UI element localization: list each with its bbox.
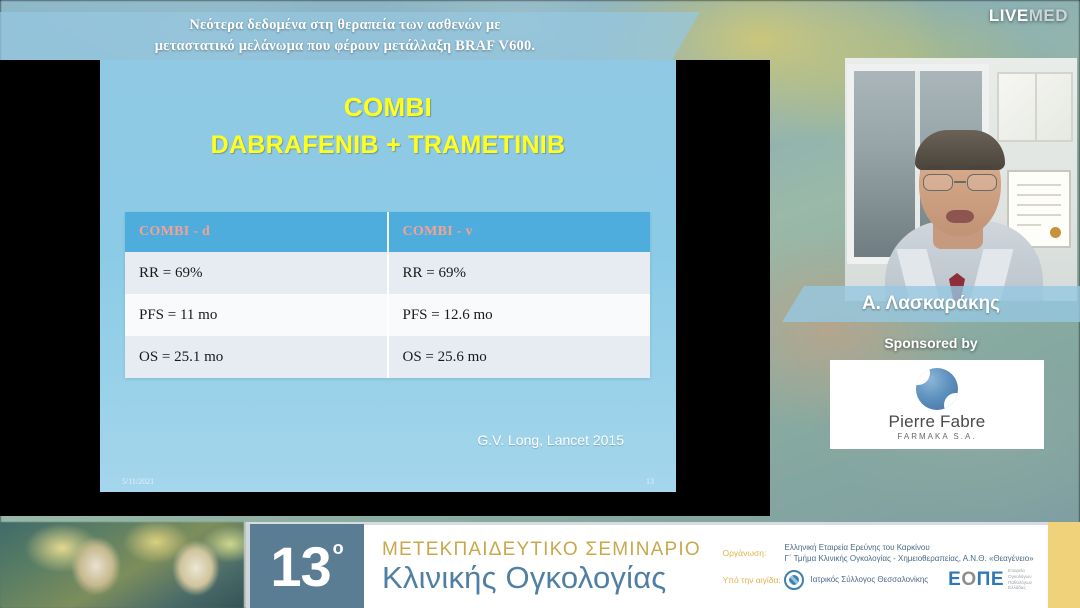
- speaker-glasses: [921, 174, 999, 191]
- speaker-video-feed[interactable]: [845, 58, 1077, 301]
- medical-association-logo-icon: [784, 570, 804, 590]
- footer-accent-stripe: [1048, 522, 1080, 608]
- sponsored-by-label: Sponsored by: [782, 335, 1080, 351]
- table-header-combi-v: COMBI - v: [388, 212, 651, 252]
- eope-logo-mark: EOΠΕ: [948, 569, 1004, 591]
- edition-degree: ο: [333, 538, 344, 559]
- cell-pfs-combi-v: PFS = 12.6 mo: [388, 294, 651, 336]
- eope-logo-subtitle: Εταιρεία Ογκολόγων Παθολόγων Ελλάδας: [1008, 568, 1042, 590]
- presentation-slide: COMBI DABRAFENIB + TRAMETINIB COMBI - d …: [100, 60, 676, 492]
- edition-number: 13: [270, 539, 330, 595]
- slide-footer: 5/11/2021 13: [100, 477, 676, 486]
- certificate-seal-icon: [1050, 227, 1061, 238]
- sponsor-logo-card: Pierre Fabre FARMAKA S.A.: [830, 360, 1044, 449]
- slide-date: 5/11/2021: [122, 477, 154, 486]
- livemed-logo-med: MED: [1029, 6, 1068, 25]
- table-header-combi-d: COMBI - d: [125, 212, 388, 252]
- organizer-row: Οργάνωση: Ελληνική Εταιρεία Ερεύνης του …: [722, 542, 1042, 564]
- aegis-organization-name: Ιατρικός Σύλλογος Θεσσαλονίκης: [810, 575, 928, 584]
- footer-content: 13 ο ΜΕΤΕΚΠΑΙΔΕΥΤΙΚΟ ΣΕΜΙΝΑΡΙΟ Κλινικής …: [246, 522, 1048, 608]
- speaker-name: Α. Λασκαράκης: [862, 293, 1000, 315]
- slide-share-region[interactable]: COMBI DABRAFENIB + TRAMETINIB COMBI - d …: [0, 60, 770, 516]
- speaker-brow-left: [925, 166, 949, 170]
- cell-rr-combi-d: RR = 69%: [125, 252, 388, 294]
- cell-rr-combi-v: RR = 69%: [388, 252, 651, 294]
- livemed-logo: LIVEMED: [989, 6, 1068, 26]
- event-footer-bar: 13 ο ΜΕΤΕΚΠΑΙΔΕΥΤΙΚΟ ΣΕΜΙΝΑΡΙΟ Κλινικής …: [0, 522, 1080, 608]
- sponsor-name: Pierre Fabre: [889, 412, 986, 431]
- slide-page-number: 13: [646, 477, 654, 486]
- eope-logo: EOΠΕ Εταιρεία Ογκολόγων Παθολόγων Ελλάδα…: [948, 568, 1042, 590]
- slide-citation: G.V. Long, Lancet 2015: [100, 432, 676, 448]
- seminar-title-line2: Κλινικής Ογκολογίας: [382, 561, 701, 595]
- table-row: RR = 69% RR = 69%: [125, 252, 650, 294]
- broadcast-screen: Νεότερα δεδομένα στη θεραπεία των ασθενώ…: [0, 0, 1080, 608]
- organizer-line1: Ελληνική Εταιρεία Ερεύνης του Καρκίνου: [784, 542, 1033, 553]
- edition-badge: 13 ο: [246, 524, 364, 608]
- presentation-title-line1: Νεότερα δεδομένα στη θεραπεία των ασθενώ…: [189, 15, 500, 36]
- table-row: PFS = 11 mo PFS = 12.6 mo: [125, 294, 650, 336]
- aegis-label: Υπό την αιγίδα:: [722, 575, 784, 585]
- table-header-row: COMBI - d COMBI - v: [125, 212, 650, 252]
- footer-organizers: Οργάνωση: Ελληνική Εταιρεία Ερεύνης του …: [722, 524, 1048, 608]
- slide-title-line2: DABRAFENIB + TRAMETINIB: [100, 126, 676, 164]
- speaker-name-banner: Α. Λασκαράκης: [782, 286, 1080, 322]
- cell-os-combi-v: OS = 25.6 mo: [388, 336, 651, 378]
- presentation-title-line2: μεταστατικό μελάνωμα που φέρουν μετάλλαξ…: [155, 36, 536, 57]
- speaker-mouth: [946, 210, 974, 223]
- aegis-row: Υπό την αιγίδα: Ιατρικός Σύλλογος Θεσσαλ…: [722, 568, 1042, 590]
- table-row: OS = 25.1 mo OS = 25.6 mo: [125, 336, 650, 378]
- organizer-label: Οργάνωση:: [722, 548, 784, 558]
- slide-title: COMBI DABRAFENIB + TRAMETINIB: [100, 88, 676, 164]
- video-background-frame: [997, 72, 1073, 142]
- cell-os-combi-d: OS = 25.1 mo: [125, 336, 388, 378]
- cell-pfs-combi-d: PFS = 11 mo: [125, 294, 388, 336]
- livemed-logo-live: LIVE: [989, 6, 1029, 25]
- sponsor-subtitle: FARMAKA S.A.: [897, 432, 976, 441]
- presentation-title: Νεότερα δεδομένα στη θεραπεία των ασθενώ…: [0, 13, 690, 59]
- seminar-title: ΜΕΤΕΚΠΑΙΔΕΥΤΙΚΟ ΣΕΜΙΝΑΡΙΟ Κλινικής Ογκολ…: [364, 538, 701, 595]
- speaker-brow-right: [969, 166, 993, 170]
- seminar-title-line1: ΜΕΤΕΚΠΑΙΔΕΥΤΙΚΟ ΣΕΜΙΝΑΡΙΟ: [382, 538, 701, 561]
- slide-title-line1: COMBI: [100, 88, 676, 126]
- organizer-line2: Γ΄ Τμήμα Κλινικής Ογκολογίας - Χημειοθερ…: [784, 553, 1033, 564]
- combi-results-table: COMBI - d COMBI - v RR = 69% RR = 69% PF…: [125, 212, 650, 378]
- speaker-hair: [915, 130, 1005, 170]
- pierre-fabre-logo-icon: [916, 368, 958, 410]
- footer-artwork-image: [0, 522, 246, 608]
